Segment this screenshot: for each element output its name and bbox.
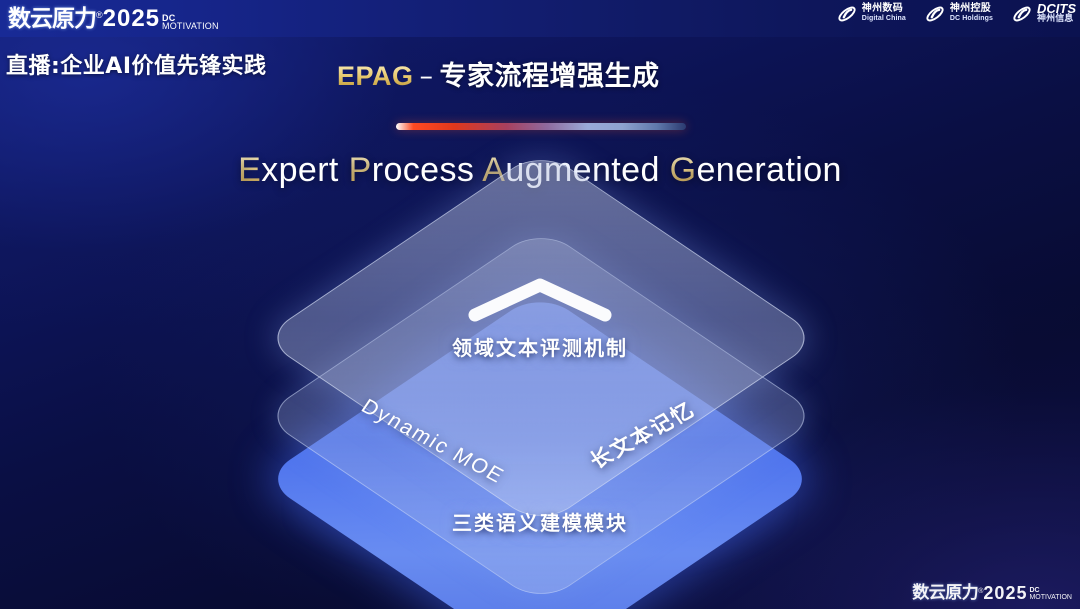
watermark-motivation: MOTIVATION bbox=[1029, 594, 1072, 601]
partner-name-cn: DCITS bbox=[1037, 4, 1076, 14]
diagram-glow bbox=[290, 430, 790, 580]
partner-name-en: 神州信息 bbox=[1037, 14, 1076, 24]
subtitle-rest: ugmented bbox=[505, 151, 659, 189]
partner-logo-digital-china: 神州数码 Digital China bbox=[836, 3, 906, 25]
watermark-dc: DC bbox=[1029, 587, 1072, 594]
partner-name-en: Digital China bbox=[862, 14, 906, 24]
partner-name-cn: 神州数码 bbox=[862, 4, 906, 14]
chevron-up-icon bbox=[467, 277, 613, 323]
slide-title-acronym: EPAG bbox=[337, 61, 414, 91]
diagram-label-middle-right: 长文本记忆 bbox=[583, 394, 701, 474]
watermark-cn: 数云原力 bbox=[912, 584, 978, 603]
swirl-icon bbox=[924, 3, 946, 25]
subtitle-word-process: Process bbox=[349, 151, 475, 189]
swirl-icon bbox=[1011, 3, 1033, 25]
brand-logo-registered: ® bbox=[96, 8, 103, 32]
subtitle-rest: xpert bbox=[261, 151, 339, 189]
header-band: 数云原力®2025DCMOTIVATION 神州数码 Digital China bbox=[0, 0, 1080, 37]
partner-logo-dcits: DCITS 神州信息 bbox=[1011, 3, 1076, 25]
subtitle-rest: eneration bbox=[696, 151, 841, 189]
brand-logo-dcm: DCMOTIVATION bbox=[160, 14, 219, 32]
diagram-label-top: 领域文本评测机制 bbox=[0, 332, 1080, 361]
slide-canvas: 数云原力®2025DCMOTIVATION 神州数码 Digital China bbox=[0, 0, 1080, 609]
subtitle-word-augmented: Augmented bbox=[482, 151, 660, 189]
brand-logo-cn: 数云原力 bbox=[8, 6, 96, 32]
title-divider bbox=[396, 123, 686, 130]
slide-title-dash: – bbox=[414, 61, 440, 92]
partner-name-en: DC Holdings bbox=[950, 14, 993, 24]
subtitle-cap: G bbox=[670, 151, 697, 189]
watermark-dcm: DCMOTIVATION bbox=[1027, 587, 1072, 603]
partner-logo-text: 神州控股 DC Holdings bbox=[950, 4, 993, 24]
partner-name-cn: 神州控股 bbox=[950, 4, 993, 14]
slide-title-cn: 专家流程增强生成 bbox=[440, 61, 660, 92]
partner-logo-dc-holdings: 神州控股 DC Holdings bbox=[924, 3, 993, 25]
partner-logo-text: DCITS 神州信息 bbox=[1037, 4, 1076, 24]
subtitle-word-expert: Expert bbox=[238, 151, 339, 189]
subtitle-word-generation: Generation bbox=[670, 151, 842, 189]
watermark-year: 2025 bbox=[983, 584, 1027, 603]
subtitle-cap: P bbox=[349, 151, 372, 189]
subtitle-rest: rocess bbox=[372, 151, 475, 189]
watermark-logo: 数云原力®2025DCMOTIVATION bbox=[912, 584, 1072, 603]
brand-logo-year: 2025 bbox=[103, 6, 160, 32]
subtitle-cap: E bbox=[238, 151, 261, 189]
partner-logo-group: 神州数码 Digital China 神州控股 DC Holdings bbox=[836, 3, 1076, 25]
partner-logo-text: 神州数码 Digital China bbox=[862, 4, 906, 24]
slide-title: EPAG–专家流程增强生成 bbox=[337, 54, 660, 93]
brand-logo-motivation: MOTIVATION bbox=[162, 22, 219, 30]
brand-logo: 数云原力®2025DCMOTIVATION bbox=[8, 2, 219, 32]
slide-subtitle: Expert Process Augmented Generation bbox=[0, 151, 1080, 190]
subtitle-cap: A bbox=[482, 151, 505, 189]
swirl-icon bbox=[836, 3, 858, 25]
diagram-label-middle-left: Dynamic MOE bbox=[357, 395, 509, 489]
diagram-label-bottom: 三类语义建模模块 bbox=[0, 507, 1080, 536]
live-stream-title: 直播:企业AI价值先锋实践 bbox=[6, 48, 267, 80]
